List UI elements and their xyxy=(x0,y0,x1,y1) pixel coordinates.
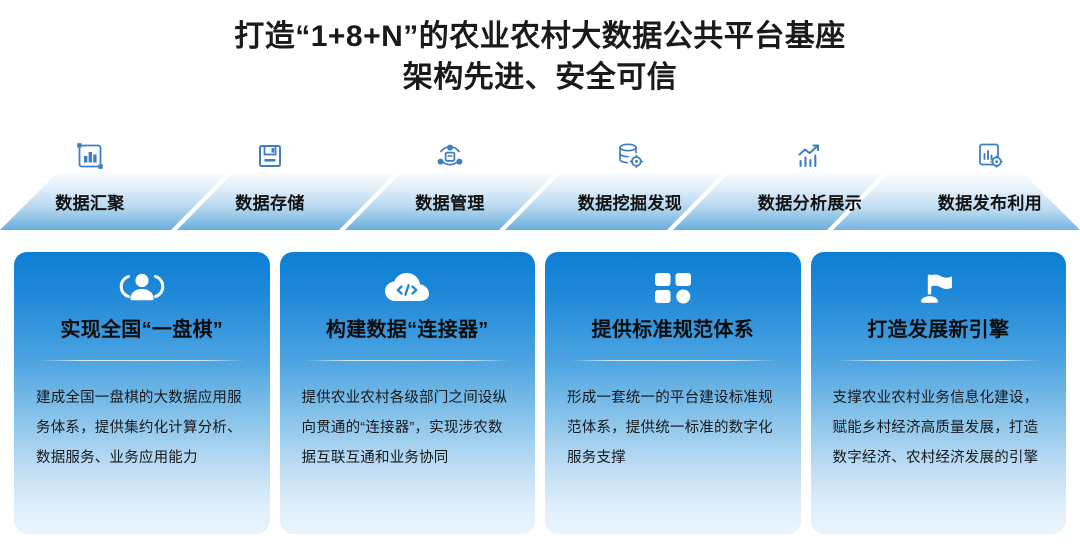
feature-card-2-icon-wrap xyxy=(302,252,514,308)
cloud-code-icon xyxy=(381,271,433,305)
process-band-labels: 数据汇聚 数据存储 数据管理 数据挖掘发现 数据分析展示 数据发布利用 xyxy=(0,172,1080,230)
feature-card-3-divider xyxy=(569,360,777,361)
feature-card-1-title: 实现全国“一盘棋” xyxy=(36,316,248,344)
feature-card-3-icon-wrap xyxy=(567,252,779,308)
infographic-slide: 打造“1+8+N”的农业农村大数据公共平台基座 架构先进、安全可信 xyxy=(0,0,1080,558)
feature-card-4-divider xyxy=(835,360,1043,361)
feature-card-4: 打造发展新引擎 支撑农业农村业务信息化建设，赋能乡村经济高质量发展，打造数字经济… xyxy=(811,252,1067,534)
feature-card-2-divider xyxy=(304,360,512,361)
flag-icon xyxy=(915,270,961,306)
feature-card-1: 实现全国“一盘棋” 建成全国一盘棋的大数据应用服务体系，提供集约化计算分析、数据… xyxy=(14,252,270,534)
trend-chart-icon xyxy=(794,140,826,172)
report-gear-icon xyxy=(974,140,1006,172)
feature-card-1-divider xyxy=(38,360,246,361)
feature-card-3: 提供标准规范体系 形成一套统一的平台建设标准规范体系，提供统一标准的数字化服务支… xyxy=(545,252,801,534)
feature-card-4-icon-wrap xyxy=(833,252,1045,308)
feature-card-2-body: 提供农业农村各级部门之间设纵向贯通的“连接器”，实现涉农数据互联互通和业务协同 xyxy=(302,383,514,473)
floppy-disk-icon xyxy=(254,140,286,172)
process-step-label-3: 数据管理 xyxy=(360,172,540,230)
process-band: 数据汇聚 数据存储 数据管理 数据挖掘发现 数据分析展示 数据发布利用 xyxy=(0,134,1080,230)
page-title: 打造“1+8+N”的农业农村大数据公共平台基座 架构先进、安全可信 xyxy=(0,16,1080,98)
database-gear-icon xyxy=(614,140,646,172)
network-person-icon xyxy=(434,140,466,172)
title-line-1: 打造“1+8+N”的农业农村大数据公共平台基座 xyxy=(0,16,1080,57)
process-step-label-6: 数据发布利用 xyxy=(900,172,1080,230)
feature-card-2: 构建数据“连接器” 提供农业农村各级部门之间设纵向贯通的“连接器”，实现涉农数据… xyxy=(280,252,536,534)
bar-chart-frame-icon xyxy=(74,140,106,172)
process-step-label-4: 数据挖掘发现 xyxy=(540,172,720,230)
feature-card-4-body: 支撑农业农村业务信息化建设，赋能乡村经济高质量发展，打造数字经济、农村经济发展的… xyxy=(833,383,1045,473)
feature-card-1-icon-wrap xyxy=(36,252,248,308)
grid-blocks-icon xyxy=(652,270,694,306)
title-line-2: 架构先进、安全可信 xyxy=(0,57,1080,98)
feature-card-1-body: 建成全国一盘棋的大数据应用服务体系，提供集约化计算分析、数据服务、业务应用能力 xyxy=(36,383,248,473)
feature-card-3-body: 形成一套统一的平台建设标准规范体系，提供统一标准的数字化服务支撑 xyxy=(567,383,779,473)
process-step-label-2: 数据存储 xyxy=(180,172,360,230)
process-step-label-1: 数据汇聚 xyxy=(0,172,180,230)
feature-cards: 实现全国“一盘棋” 建成全国一盘棋的大数据应用服务体系，提供集约化计算分析、数据… xyxy=(14,252,1066,534)
users-icon xyxy=(119,270,165,306)
feature-card-2-title: 构建数据“连接器” xyxy=(302,316,514,344)
feature-card-4-title: 打造发展新引擎 xyxy=(833,316,1045,344)
process-step-label-5: 数据分析展示 xyxy=(720,172,900,230)
feature-card-3-title: 提供标准规范体系 xyxy=(567,316,779,344)
